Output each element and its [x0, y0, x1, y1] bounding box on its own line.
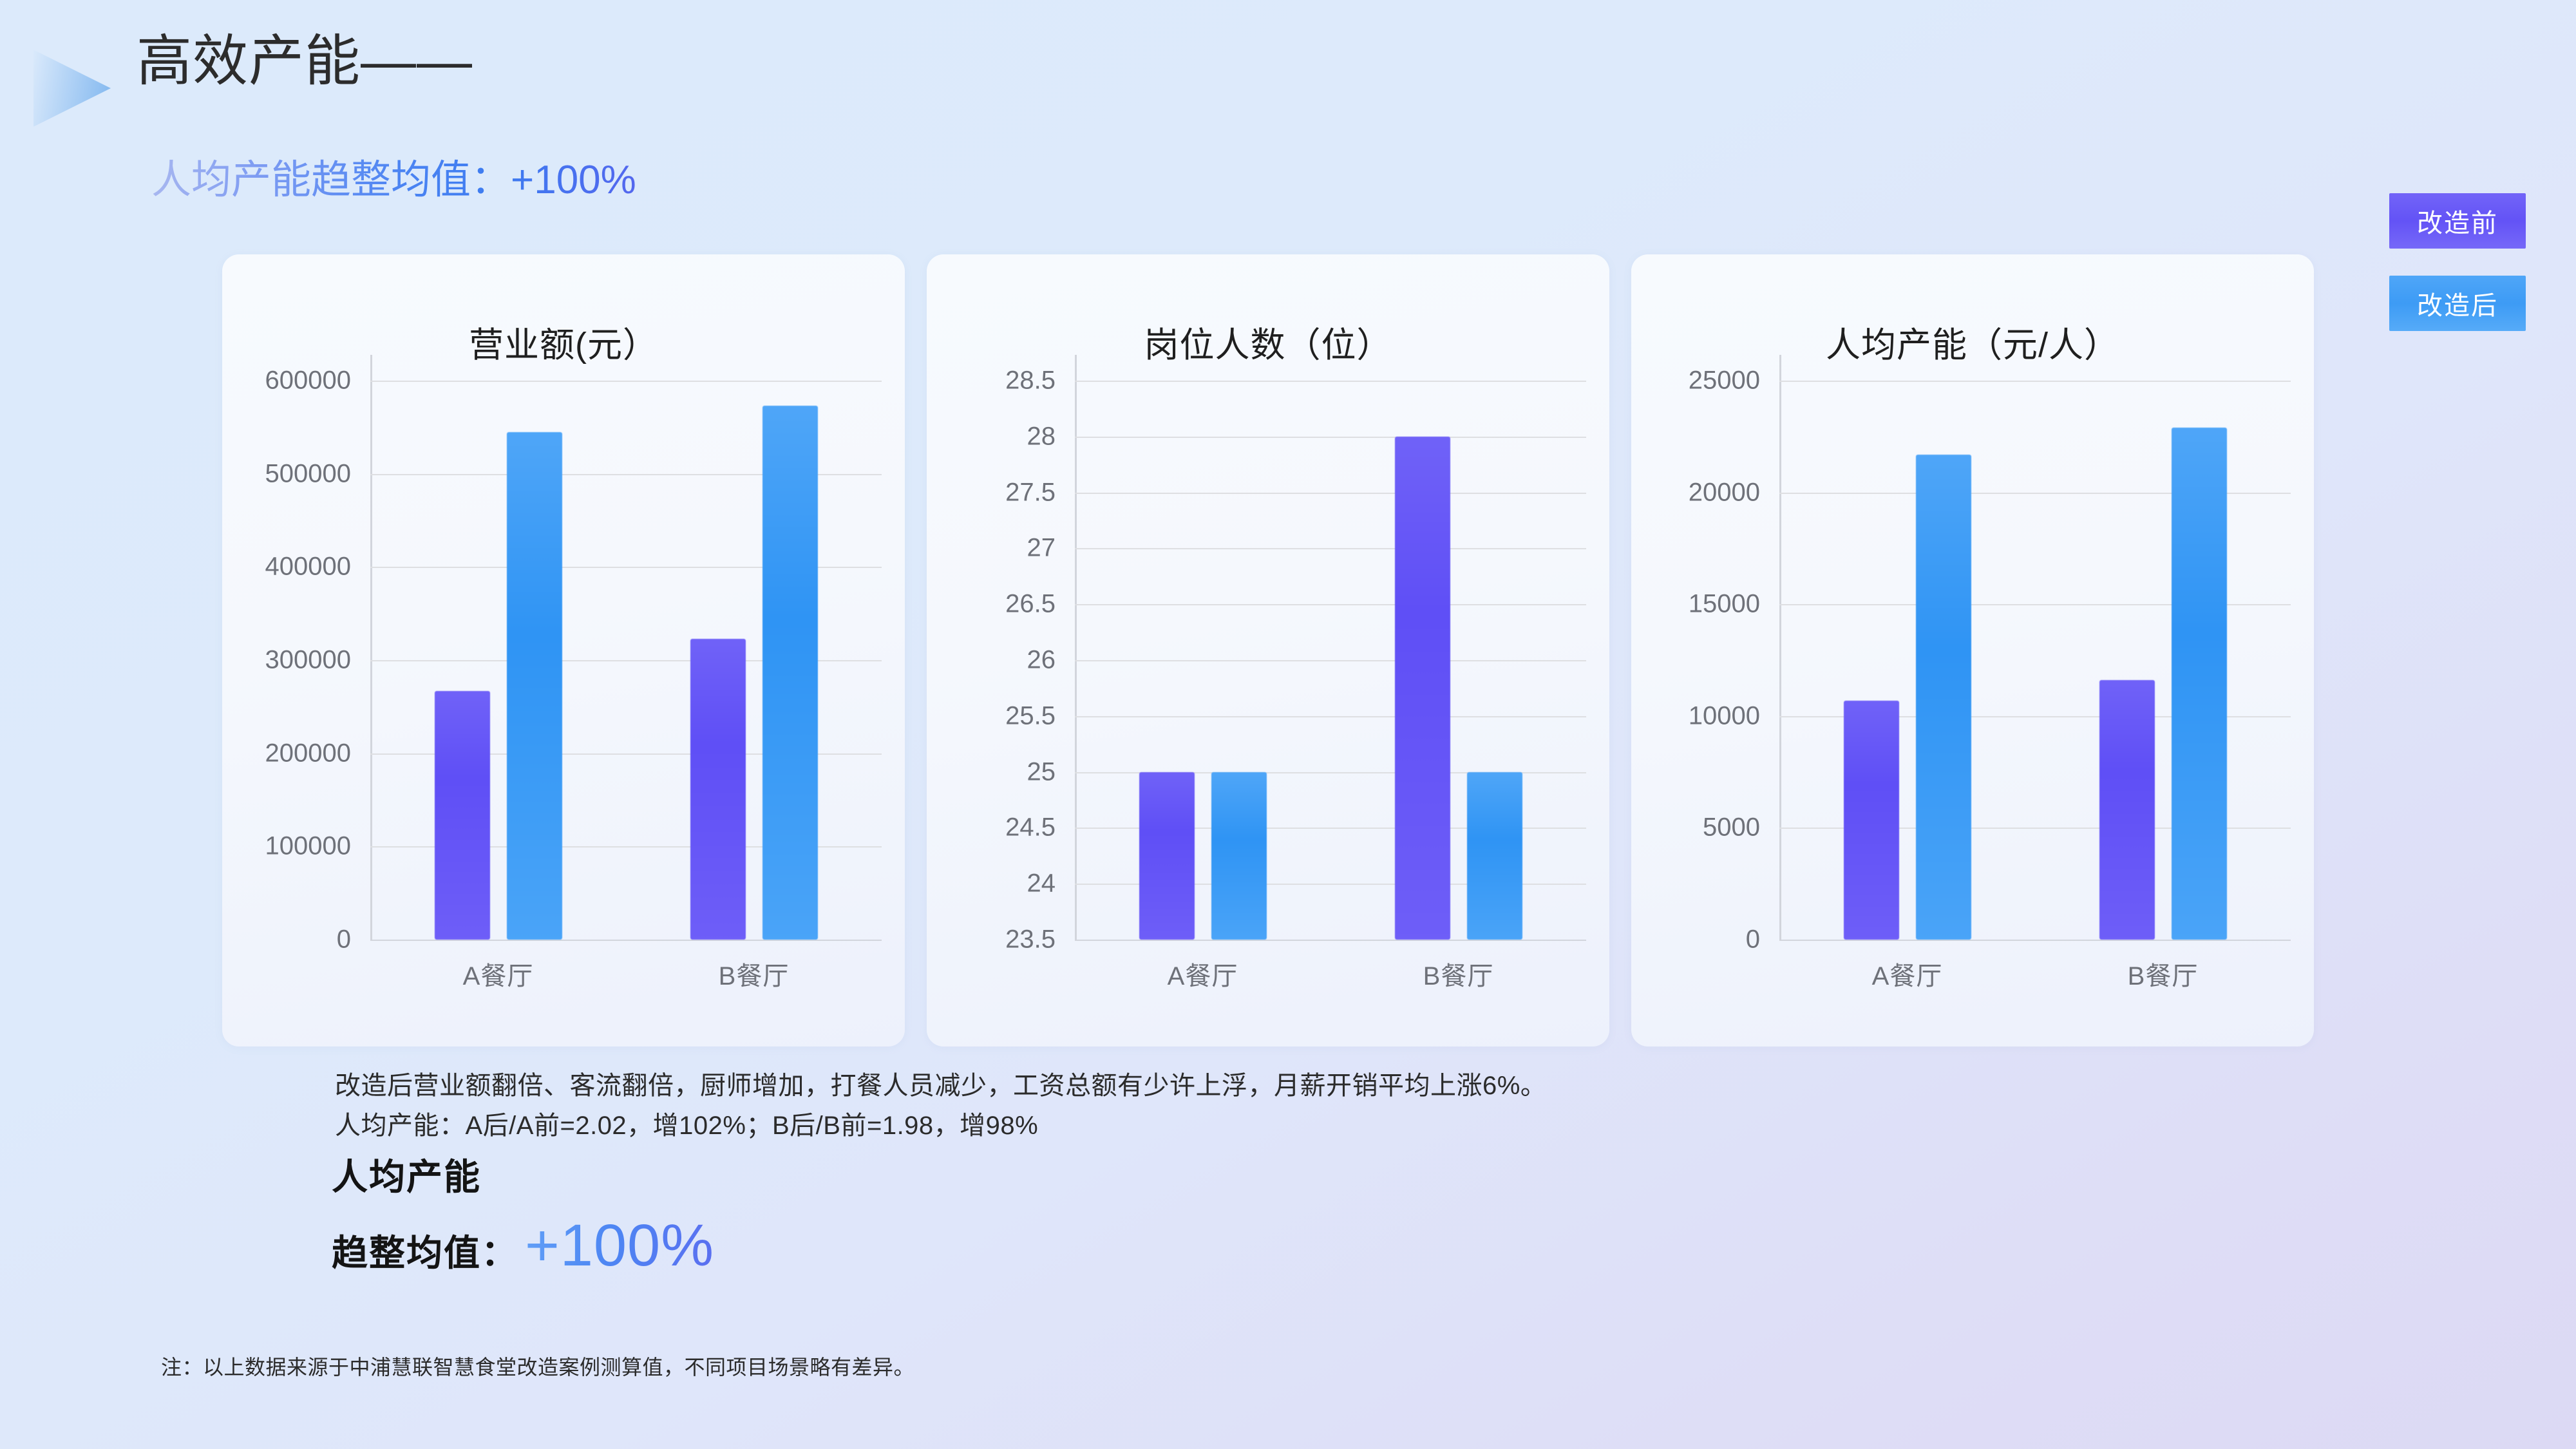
bar-after[interactable] [2172, 428, 2227, 940]
note-line-2: 人均产能：A后/A前=2.02，增102%；B后/B前=1.98，增98% [335, 1106, 2267, 1146]
bar-container [370, 381, 882, 940]
page-subtitle: 人均产能趋整均值：+100% [151, 147, 636, 205]
y-tick-label: 27 [1027, 534, 1056, 563]
bar-after[interactable] [1467, 772, 1522, 940]
legend-label-after: 改造后 [2417, 285, 2498, 322]
bar-after[interactable] [507, 432, 562, 940]
bar-after[interactable] [762, 406, 818, 940]
y-tick-label: 500000 [265, 459, 351, 488]
y-tick-label: 600000 [265, 366, 351, 395]
y-tick-label: 24.5 [1005, 813, 1056, 842]
bar-before[interactable] [1844, 701, 1899, 940]
bar-group [1331, 381, 1586, 940]
kpi-prefix: 趋整均值： [332, 1224, 518, 1276]
bar-group [370, 381, 626, 940]
x-axis-labels: A餐厅B餐厅 [370, 955, 882, 992]
y-tick-label: 28.5 [1005, 366, 1056, 395]
bar-group [1779, 381, 2035, 940]
y-tick-label: 27.5 [1005, 478, 1056, 507]
bar-after[interactable] [1916, 455, 1971, 940]
bar-group [2035, 381, 2291, 940]
bar-before[interactable] [1395, 437, 1450, 940]
page-title: 高效产能—— [137, 31, 473, 92]
y-tick-label: 26.5 [1005, 590, 1056, 619]
y-tick-label: 10000 [1689, 701, 1760, 730]
chart-legend: 改造前 改造后 [2389, 193, 2526, 358]
y-tick-label: 200000 [265, 739, 351, 768]
y-tick-label: 25.5 [1005, 701, 1056, 730]
x-axis-labels: A餐厅B餐厅 [1779, 955, 2291, 992]
x-tick-label: B餐厅 [626, 955, 882, 992]
gridline [1779, 940, 2291, 941]
bar-before[interactable] [2099, 680, 2155, 940]
x-tick-label: B餐厅 [2035, 955, 2291, 992]
y-tick-label: 23.5 [1005, 925, 1056, 954]
y-tick-label: 25 [1027, 757, 1056, 786]
bar-container [1075, 381, 1586, 940]
y-tick-label: 15000 [1689, 590, 1760, 619]
bar-after[interactable] [1211, 772, 1267, 940]
chart-title: 岗位人数（位） [927, 316, 1609, 367]
bar-before[interactable] [690, 639, 746, 940]
chart-title: 人均产能（元/人） [1631, 316, 2314, 367]
kpi-label: 人均产能 [332, 1153, 714, 1202]
x-axis-labels: A餐厅B餐厅 [1075, 955, 1586, 992]
x-tick-label: A餐厅 [370, 955, 626, 992]
chart-card-2: 岗位人数（位）23.52424.52525.52626.52727.52828.… [927, 254, 1609, 1046]
bar-before[interactable] [1139, 772, 1195, 940]
page-header: 高效产能—— 人均产能趋整均值：+100% [0, 0, 2576, 245]
bar-container [1779, 381, 2291, 940]
footnote: 注：以上数据来源于中浦慧联智慧食堂改造案例测算值，不同项目场景略有差异。 [161, 1351, 914, 1381]
bar-group [626, 381, 882, 940]
bar-group [1075, 381, 1331, 940]
chart-title: 营业额(元） [222, 316, 905, 367]
legend-label-before: 改造前 [2417, 202, 2498, 240]
legend-item-after[interactable]: 改造后 [2389, 276, 2526, 331]
y-tick-label: 0 [337, 925, 351, 954]
plot-area: 23.52424.52525.52626.52727.52828.5 [1075, 381, 1586, 940]
chart-card-row: 营业额(元）0100000200000300000400000500000600… [222, 254, 2314, 1046]
kpi-value: +100% [525, 1212, 714, 1280]
y-tick-label: 5000 [1703, 813, 1760, 842]
x-tick-label: A餐厅 [1075, 955, 1331, 992]
gridline [1075, 940, 1586, 941]
x-tick-label: A餐厅 [1779, 955, 2035, 992]
notes-block: 改造后营业额翻倍、客流翻倍，厨师增加，打餐人员减少，工资总额有少许上浮，月薪开销… [335, 1066, 2267, 1146]
y-tick-label: 26 [1027, 646, 1056, 675]
chart-card-1: 营业额(元）0100000200000300000400000500000600… [222, 254, 905, 1046]
y-tick-label: 24 [1027, 869, 1056, 898]
y-tick-label: 20000 [1689, 478, 1760, 507]
y-axis-labels: 0100000200000300000400000500000600000 [227, 381, 360, 940]
y-axis-labels: 23.52424.52525.52626.52727.52828.5 [932, 381, 1065, 940]
kpi-block: 人均产能 趋整均值： +100% [332, 1153, 714, 1280]
y-tick-label: 0 [1746, 925, 1760, 954]
plot-area: 0100000200000300000400000500000600000 [370, 381, 882, 940]
y-axis-labels: 0500010000150002000025000 [1636, 381, 1769, 940]
y-tick-label: 300000 [265, 646, 351, 675]
x-tick-label: B餐厅 [1331, 955, 1586, 992]
legend-item-before[interactable]: 改造前 [2389, 193, 2526, 249]
y-tick-label: 28 [1027, 422, 1056, 451]
chart-card-3: 人均产能（元/人）0500010000150002000025000A餐厅B餐厅 [1631, 254, 2314, 1046]
y-tick-label: 400000 [265, 553, 351, 582]
play-triangle-icon [33, 46, 111, 130]
bar-before[interactable] [435, 691, 490, 940]
y-tick-label: 25000 [1689, 366, 1760, 395]
gridline [370, 940, 882, 941]
y-tick-label: 100000 [265, 832, 351, 861]
plot-area: 0500010000150002000025000 [1779, 381, 2291, 940]
note-line-1: 改造后营业额翻倍、客流翻倍，厨师增加，打餐人员减少，工资总额有少许上浮，月薪开销… [335, 1066, 2267, 1106]
